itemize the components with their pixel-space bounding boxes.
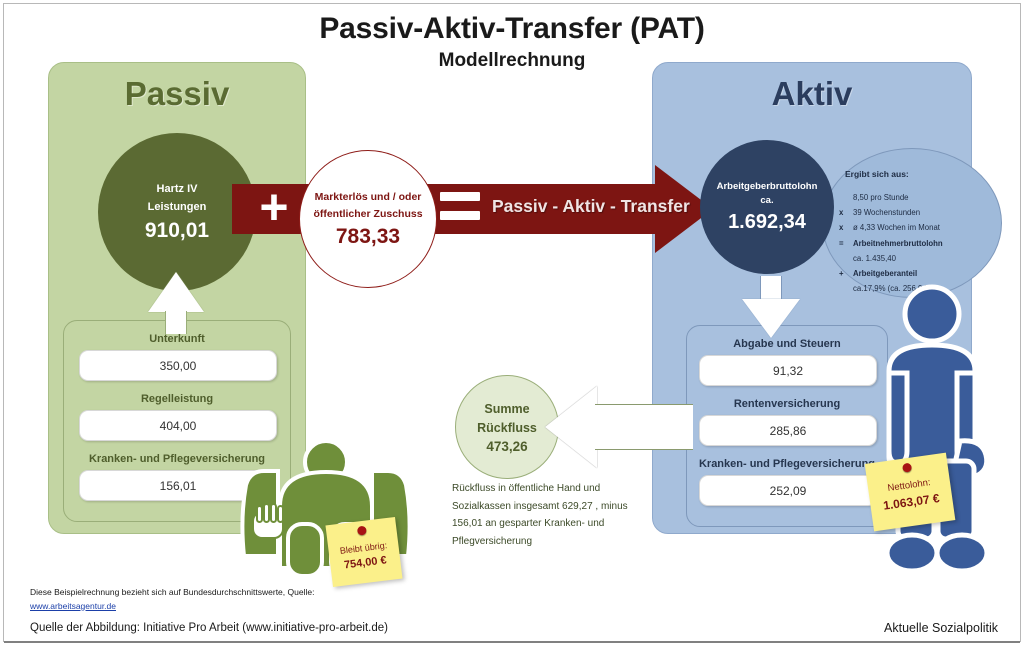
bruttolohn-value: 1.692,34 <box>728 211 806 234</box>
passiv-up-arrow-icon <box>148 272 204 334</box>
breakdown-op-5: + <box>839 266 853 281</box>
bruttolohn-label-line2: ca. <box>760 194 773 208</box>
aktiv-down-arrow-icon <box>742 276 800 338</box>
markterloes-label-line2: öffentlicher Zuschuss <box>313 206 422 223</box>
footer-brand: Aktuelle Sozialpolitik <box>884 621 998 635</box>
summe-label-line2: Rückfluss <box>477 419 537 437</box>
page-title: Passiv-Aktiv-Transfer (PAT) <box>0 12 1024 46</box>
passiv-heading: Passiv <box>49 75 305 113</box>
rueckfluss-left-arrow-icon <box>545 386 693 468</box>
summe-value: 473,26 <box>486 439 527 454</box>
aktiv-row-label-0: Abgabe und Steuern <box>687 338 887 350</box>
aktiv-breakdown-bubble: Ergibt sich aus: 8,50 pro Stunde x 39 Wo… <box>822 148 1002 298</box>
aktiv-row-label-2: Kranken- und Pflegeversicherung <box>687 458 887 470</box>
markterloes-label-line1: Markterlös und / oder <box>315 189 422 206</box>
pin-icon <box>357 526 367 536</box>
breakdown-text-0: 8,50 pro Stunde <box>853 190 909 205</box>
breakdown-row: x 39 Wochenstunden <box>839 205 999 220</box>
breakdown-row: = Arbeitnehmerbruttolohn <box>839 236 999 251</box>
breakdown-row: x ø 4,33 Wochen im Monat <box>839 220 999 235</box>
infographic-canvas: Passiv-Aktiv-Transfer (PAT) Modellrechnu… <box>0 0 1024 645</box>
footer-link[interactable]: www.arbeitsagentur.de <box>30 600 450 614</box>
breakdown-row: 8,50 pro Stunde <box>839 190 999 205</box>
passiv-row-value-0: 350,00 <box>79 350 277 381</box>
footer-divider <box>4 641 1020 643</box>
breakdown-op-2: x <box>839 220 853 235</box>
breakdown-title: Ergibt sich aus: <box>845 169 909 179</box>
summe-rueckfluss-circle: Summe Rückfluss 473,26 <box>455 375 559 479</box>
breakdown-text-3: Arbeitnehmerbruttolohn <box>853 236 943 251</box>
pin-icon <box>902 463 912 473</box>
breakdown-text-4: ca. 1.435,40 <box>853 251 896 266</box>
plus-sign-icon: + <box>252 183 296 235</box>
footer-note: Diese Beispielrechnung bezieht sich auf … <box>30 586 450 613</box>
aktiv-breakdown-box: Abgabe und Steuern 91,32 Rentenversicher… <box>686 325 888 527</box>
passiv-row-label-0: Unterkunft <box>64 333 290 345</box>
aktiv-sticky-note: Nettolohn: 1.063,07 € <box>865 453 956 532</box>
rueckfluss-note: Rückfluss in öffentliche Hand und Sozial… <box>452 480 648 550</box>
passiv-sticky-note: Bleibt übrig: 754,00 € <box>325 517 402 587</box>
breakdown-text-1: 39 Wochenstunden <box>853 205 920 220</box>
aktiv-row-value-1: 285,86 <box>699 415 877 446</box>
equals-sign-icon <box>440 192 480 226</box>
markterloes-value: 783,33 <box>336 225 400 249</box>
footer-note-text: Diese Beispielrechnung bezieht sich auf … <box>30 587 314 597</box>
aktiv-row-value-0: 91,32 <box>699 355 877 386</box>
hartz-iv-value: 910,01 <box>145 219 209 243</box>
footer-source: Quelle der Abbildung: Initiative Pro Arb… <box>30 622 388 634</box>
passiv-row-label-1: Regelleistung <box>64 393 290 405</box>
breakdown-text-5: Arbeitgeberanteil <box>853 266 917 281</box>
passiv-row-value-1: 404,00 <box>79 410 277 441</box>
breakdown-row: + Arbeitgeberanteil <box>839 266 999 281</box>
breakdown-op-1: x <box>839 205 853 220</box>
aktiv-row-label-1: Rentenversicherung <box>687 398 887 410</box>
hartz-iv-label-line2: Leistungen <box>148 199 207 216</box>
transfer-label: Passiv - Aktiv - Transfer <box>492 196 690 217</box>
markterloes-circle: Markterlös und / oder öffentlicher Zusch… <box>299 150 437 288</box>
breakdown-text-2: ø 4,33 Wochen im Monat <box>853 220 940 235</box>
bruttolohn-label-line1: Arbeitgeberbruttolohn <box>717 180 818 194</box>
arbeitgeberbruttolohn-circle: Arbeitgeberbruttolohn ca. 1.692,34 <box>700 140 834 274</box>
aktiv-heading: Aktiv <box>653 75 971 113</box>
breakdown-op-3: = <box>839 236 853 251</box>
breakdown-row: ca. 1.435,40 <box>839 251 999 266</box>
summe-label-line1: Summe <box>484 400 529 418</box>
aktiv-person-illustration <box>876 281 1014 579</box>
hartz-iv-label-line1: Hartz IV <box>157 181 198 198</box>
aktiv-row-value-2: 252,09 <box>699 475 877 506</box>
